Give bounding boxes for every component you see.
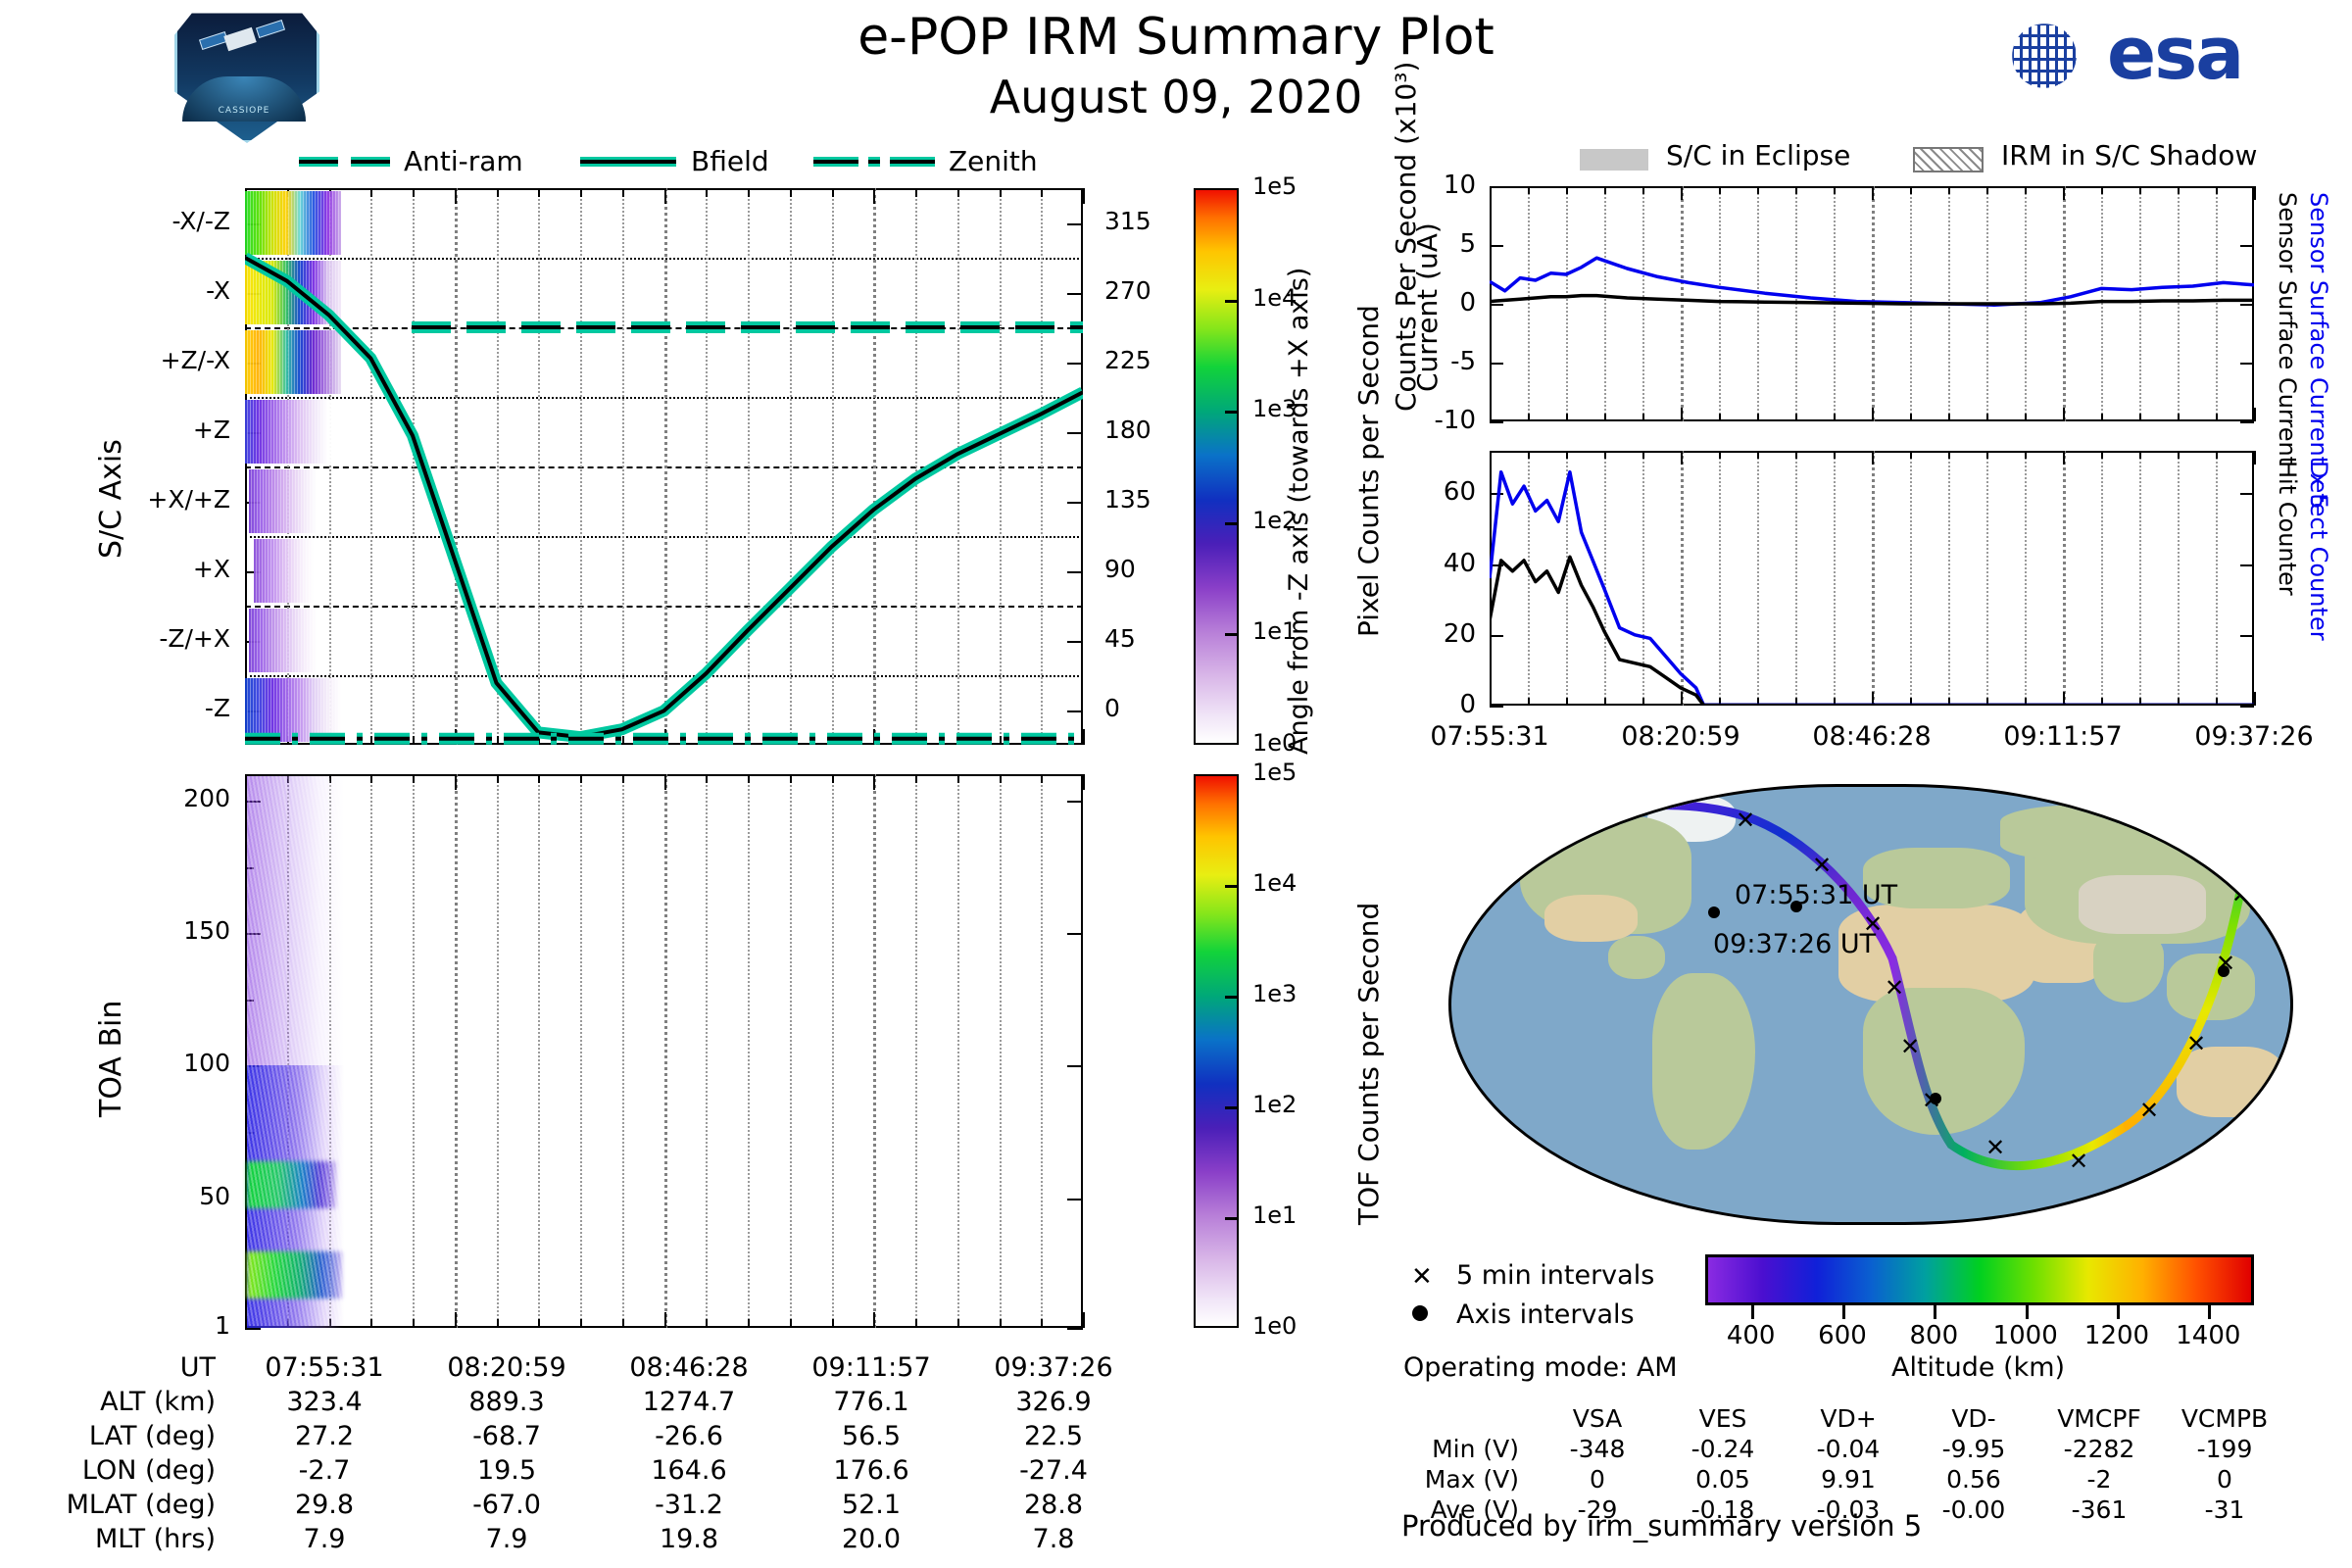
- ephemeris-cell: -67.0: [416, 1488, 598, 1522]
- ephemeris-row-label: LAT (deg): [20, 1419, 233, 1453]
- toa-bin-vgrid: [622, 774, 624, 1328]
- counts-xtick-label: 07:55:31: [1399, 721, 1580, 752]
- track-marker-x: ✕: [1900, 1035, 1920, 1058]
- toa-bin-xtick: [664, 774, 666, 790]
- tof-counts-colorbar-label: TOF Counts per Second: [1352, 903, 1385, 1225]
- tof-counts-colorbar-label: 1e4: [1252, 869, 1297, 897]
- toa-bin-xtick: [790, 774, 792, 783]
- ephemeris-cell: 326.9: [962, 1385, 1145, 1419]
- voltage-column-header: VMCPF: [2036, 1403, 2162, 1434]
- altitude-colorbar-tick: [1842, 1305, 1845, 1319]
- voltage-cell: -2282: [2036, 1434, 2162, 1464]
- ephemeris-cell: 08:20:59: [416, 1350, 598, 1385]
- eclipse-legend-label: S/C in Eclipse: [1666, 139, 1850, 171]
- counts-right-label-black: Hit Counter: [2274, 461, 2301, 596]
- ephemeris-row: MLAT (deg)29.8-67.0-31.252.128.8: [20, 1488, 1145, 1522]
- voltage-column-header: VSA: [1535, 1403, 1660, 1434]
- pixel-counts-colorbar-label: 1e3: [1252, 395, 1297, 422]
- sc-axis-ytick-label: +X/+Z: [20, 485, 230, 514]
- map-legend-dot-label: Axis intervals: [1456, 1299, 1635, 1330]
- ephemeris-cell: -68.7: [416, 1419, 598, 1453]
- ephemeris-cell: 323.4: [233, 1385, 416, 1419]
- voltage-cell: -361: [2036, 1494, 2162, 1525]
- legend-antiram-swatch-b-core: [351, 160, 390, 164]
- toa-bin-xtick: [1000, 774, 1002, 783]
- voltage-cell: -31: [2162, 1494, 2287, 1525]
- ytick: [1490, 706, 1503, 708]
- toa-bin-xtick: [915, 774, 917, 783]
- toa-bin-xtick: [1000, 1319, 1002, 1328]
- altitude-colorbar-tick: [2117, 1305, 2120, 1319]
- sc-axis-angle-tick-label: 315: [1104, 207, 1151, 235]
- legend-zenith-swatch-dot-core: [868, 160, 880, 164]
- toa-bin-xtick: [413, 1319, 415, 1328]
- toa-bin-xtick: [957, 774, 959, 783]
- pixel-counts-colorbar-label: 1e5: [1252, 172, 1297, 200]
- toa-bin-vgrid: [370, 774, 372, 1328]
- tof-counts-colorbar-label: 1e1: [1252, 1201, 1297, 1229]
- sc-axis-ytick-label: -Z: [20, 694, 230, 722]
- ephemeris-row-label: UT: [20, 1350, 233, 1385]
- ephemeris-row-label: ALT (km): [20, 1385, 233, 1419]
- toa-bin-xtick: [832, 774, 834, 783]
- toa-bin-xtick: [497, 1319, 499, 1328]
- ephemeris-cell: 28.8: [962, 1488, 1145, 1522]
- ephemeris-cell: 164.6: [598, 1453, 780, 1488]
- trace-detect-counter: [1490, 472, 2254, 706]
- altitude-colorbar-tick-label: 1400: [2149, 1321, 2267, 1350]
- ephemeris-row-label: LON (deg): [20, 1453, 233, 1488]
- toa-bin-vgrid: [1000, 774, 1002, 1328]
- toa-bin-vgrid: [580, 774, 582, 1328]
- toa-bin-vgrid: [832, 774, 834, 1328]
- ephemeris-cell: 776.1: [780, 1385, 962, 1419]
- ephemeris-cell: 22.5: [962, 1419, 1145, 1453]
- ephemeris-row-label: MLT (hrs): [20, 1522, 233, 1556]
- legend-antiram-swatch-a-core: [299, 160, 338, 164]
- ephemeris-row: UT07:55:3108:20:5908:46:2809:11:5709:37:…: [20, 1350, 1145, 1385]
- voltage-cell: 9.91: [1786, 1464, 1911, 1494]
- mission-patch-label: CASSIOPE: [174, 106, 314, 116]
- toa-bin-vgrid: [538, 774, 540, 1328]
- track-marker-x: ✕: [1885, 976, 1904, 1000]
- altitude-colorbar-tick: [2026, 1305, 2029, 1319]
- ephemeris-cell: 7.8: [962, 1522, 1145, 1556]
- toa-bin-xtick: [455, 774, 457, 790]
- ephemeris-cell: 08:46:28: [598, 1350, 780, 1385]
- map-annotation-end: 09:37:26 UT: [1713, 929, 1876, 959]
- cassiope-mission-patch: CASSIOPE: [174, 8, 314, 137]
- map-legend-dot-icon: [1412, 1305, 1428, 1321]
- legend-bfield-label: Bfield: [691, 145, 769, 177]
- sc-axis-angle-tick-label: 90: [1104, 555, 1136, 583]
- ephemeris-cell: 09:11:57: [780, 1350, 962, 1385]
- voltage-row-label: Min (V): [1401, 1434, 1535, 1464]
- ephemeris-cell: 20.0: [780, 1522, 962, 1556]
- sc-axis-curve-svg: [245, 188, 1083, 745]
- ytick-label: 0: [1382, 690, 1476, 719]
- tof-counts-colorbar-label: 1e3: [1252, 980, 1297, 1007]
- track-marker-x: ✕: [2069, 1150, 2088, 1173]
- sc-axis-ytick-label: +Z/-X: [20, 346, 230, 374]
- sc-axis-angle-tick-label: 180: [1104, 416, 1151, 444]
- ytick-label: 20: [1382, 619, 1476, 649]
- trace-hit-counter: [1490, 557, 2254, 705]
- esa-globe-icon: [1993, 16, 2095, 96]
- toa-bin-vgrid: [413, 774, 415, 1328]
- sc-axis-xtick: [1083, 188, 1085, 204]
- ephemeris-table: UT07:55:3108:20:5908:46:2809:11:5709:37:…: [20, 1350, 1145, 1556]
- ground-track-map: ✕ ✕ ✕ ✕ ✕ ✕ ✕ ✕ ✕ ✕ ✕ ✕ ✕ ✕ ✕ 07:55:31 U…: [1448, 784, 2293, 1225]
- sc-axis-ytick-label: +Z: [20, 416, 230, 444]
- ephemeris-cell: 1274.7: [598, 1385, 780, 1419]
- ytick-right: [2240, 706, 2254, 708]
- esa-wordmark: esa: [2107, 12, 2242, 96]
- sc-axis-angle-tick-label: 270: [1104, 276, 1151, 305]
- track-marker-x: ✕: [1736, 808, 1755, 832]
- toa-bin-vgrid: [455, 774, 458, 1328]
- ephemeris-cell: 7.9: [416, 1522, 598, 1556]
- toa-bin-vgrid: [790, 774, 792, 1328]
- ytick-right: [2240, 421, 2254, 423]
- voltage-cell: -0.04: [1786, 1434, 1911, 1464]
- counts-traces: [1490, 451, 2254, 706]
- tof-counts-colorbar-tick: [1225, 1217, 1237, 1220]
- pixel-counts-colorbar-label: 1e4: [1252, 284, 1297, 312]
- ephemeris-cell: -26.6: [598, 1419, 780, 1453]
- pixel-counts-colorbar-label: 1e2: [1252, 507, 1297, 534]
- shadow-legend-label: IRM in S/C Shadow: [2001, 139, 2257, 171]
- map-annotation-start: 07:55:31 UT: [1735, 880, 1897, 910]
- shadow-swatch-icon: [1913, 147, 1984, 172]
- trace-sensor-surface-current-x-5: [1490, 258, 2254, 305]
- track-marker-x: ✕: [2186, 1032, 2206, 1055]
- ephemeris-cell: 19.5: [416, 1453, 598, 1488]
- toa-bin-ytick: [245, 1328, 261, 1330]
- toa-bin-xtick: [1041, 774, 1043, 783]
- toa-bin-ytick-label: 50: [20, 1182, 230, 1210]
- counts-xtick-label: 09:37:26: [2164, 721, 2344, 752]
- toa-bin-xtick: [748, 774, 750, 783]
- toa-bin-xtick: [370, 774, 372, 783]
- track-marker-dot: [2247, 832, 2259, 844]
- toa-bin-xtick: [455, 1312, 457, 1328]
- toa-bin-ytick-label: 100: [20, 1049, 230, 1077]
- sc-axis-xtick: [1083, 729, 1085, 745]
- voltage-column-header: VES: [1660, 1403, 1786, 1434]
- legend-zenith-swatch-b-core: [890, 160, 935, 164]
- toa-bin-ytick-right: [1067, 1065, 1083, 1067]
- toa-bin-xtick: [706, 1319, 708, 1328]
- pixel-counts-colorbar-label: Pixel Counts per Second: [1352, 305, 1385, 637]
- current-traces: [1490, 186, 2254, 421]
- tof-counts-colorbar-tick: [1225, 996, 1237, 999]
- ephemeris-cell: 09:37:26: [962, 1350, 1145, 1385]
- toa-bin-ytick-label: 1: [20, 1311, 230, 1340]
- legend-antiram-label: Anti-ram: [404, 145, 523, 177]
- toa-bin-xtick: [790, 1319, 792, 1328]
- voltage-row: Max (V)00.059.910.56-20: [1401, 1464, 2287, 1494]
- toa-bin-ytick-right: [1067, 1199, 1083, 1200]
- toa-bin-vgrid: [915, 774, 917, 1328]
- voltage-cell: 0: [1535, 1464, 1660, 1494]
- map-legend-x-icon: ✕: [1411, 1262, 1433, 1292]
- sc-axis-angle-tick-label: 225: [1104, 346, 1151, 374]
- voltage-cell: 0.56: [1911, 1464, 2036, 1494]
- tof-counts-colorbar: [1194, 774, 1239, 1328]
- voltage-header-blank: [1401, 1403, 1535, 1434]
- ephemeris-cell: 889.3: [416, 1385, 598, 1419]
- track-marker-dot: [1708, 906, 1720, 918]
- altitude-colorbar: [1705, 1254, 2254, 1305]
- voltage-cell: 0.05: [1660, 1464, 1786, 1494]
- current-right-label-black: Sensor Surface Current: [2274, 192, 2301, 465]
- toa-bin-vgrid: [873, 774, 876, 1328]
- track-marker-x: ✕: [2231, 883, 2251, 906]
- voltage-row-label: Max (V): [1401, 1464, 1535, 1494]
- counts-ylabel-line1: Counts Per Second (x10³): [1390, 62, 1422, 412]
- xtick: [2254, 408, 2256, 421]
- ephemeris-cell: 29.8: [233, 1488, 416, 1522]
- pixel-counts-colorbar-tick: [1225, 300, 1237, 303]
- sc-axis-angle-tick-label: 0: [1104, 694, 1120, 722]
- voltage-stats-table: VSAVESVD+VD-VMCPFVCMPBMin (V)-348-0.24-0…: [1401, 1403, 2287, 1525]
- toa-bin-vgrid: [706, 774, 708, 1328]
- ytick: [1490, 421, 1503, 423]
- counts-xtick-label: 09:11:57: [1973, 721, 2153, 752]
- voltage-header-row: VSAVESVD+VD-VMCPFVCMPB: [1401, 1403, 2287, 1434]
- legend-bfield-swatch-core: [580, 160, 676, 164]
- ephemeris-row: LAT (deg)27.2-68.7-26.656.522.5: [20, 1419, 1145, 1453]
- ephemeris-row: ALT (km)323.4889.31274.7776.1326.9: [20, 1385, 1145, 1419]
- toa-bin-xtick: [497, 774, 499, 783]
- altitude-colorbar-tick: [2208, 1305, 2211, 1319]
- pixel-counts-colorbar-label: 1e1: [1252, 617, 1297, 645]
- pixel-counts-colorbar-tick: [1225, 522, 1237, 525]
- altitude-colorbar-tick: [1751, 1305, 1754, 1319]
- ephemeris-cell: 176.6: [780, 1453, 962, 1488]
- track-marker-x: ✕: [1985, 1136, 2005, 1159]
- ephemeris-cell: 7.9: [233, 1522, 416, 1556]
- track-marker-x: ✕: [1628, 797, 1647, 820]
- toa-bin-xtick: [538, 774, 540, 783]
- toa-bin-xtick: [538, 1319, 540, 1328]
- ephemeris-cell: 56.5: [780, 1419, 962, 1453]
- toa-bin-xtick: [622, 774, 624, 783]
- toa-bin-xtick: [873, 774, 875, 790]
- track-marker-dot: [2218, 965, 2229, 977]
- track-marker-x: ✕: [1812, 854, 1832, 877]
- track-marker-x: ✕: [1502, 834, 1522, 857]
- pixel-counts-colorbar-tick: [1225, 633, 1237, 636]
- voltage-column-header: VCMPB: [2162, 1403, 2287, 1434]
- toa-bin-ytick-right: [1067, 1328, 1083, 1330]
- toa-bin-xtick: [957, 1319, 959, 1328]
- ephemeris-cell: -2.7: [233, 1453, 416, 1488]
- toa-bin-texture: [247, 776, 344, 1326]
- ephemeris-row-label: MLAT (deg): [20, 1488, 233, 1522]
- voltage-cell: -199: [2162, 1434, 2287, 1464]
- xtick: [2254, 451, 2256, 465]
- toa-bin-xtick: [664, 1312, 666, 1328]
- toa-bin-vgrid: [748, 774, 750, 1328]
- ephemeris-cell: -31.2: [598, 1488, 780, 1522]
- toa-bin-xtick: [706, 774, 708, 783]
- ytick-label: 40: [1382, 549, 1476, 578]
- toa-bin-vgrid: [664, 774, 667, 1328]
- ytick-label: 60: [1382, 477, 1476, 507]
- sc-axis-ytick-label: -Z/+X: [20, 624, 230, 653]
- trace-sensor-surface-current: [1490, 296, 2254, 304]
- toa-bin-xtick: [413, 774, 415, 783]
- pixel-counts-colorbar: [1194, 188, 1239, 745]
- counts-xtick-label: 08:20:59: [1591, 721, 1771, 752]
- voltage-cell: -0.00: [1911, 1494, 2036, 1525]
- tof-counts-colorbar-label: 1e2: [1252, 1091, 1297, 1118]
- pixel-counts-colorbar-tick: [1225, 411, 1237, 414]
- voltage-row: Min (V)-348-0.24-0.04-9.95-2282-199: [1401, 1434, 2287, 1464]
- ephemeris-cell: 19.8: [598, 1522, 780, 1556]
- tof-counts-colorbar-tick: [1225, 1106, 1237, 1109]
- toa-bin-xtick: [1041, 1319, 1043, 1328]
- xtick: [2254, 186, 2256, 200]
- ephemeris-cell: 07:55:31: [233, 1350, 416, 1385]
- track-marker-dot: [1930, 1093, 1941, 1104]
- toa-bin-xtick: [748, 1319, 750, 1328]
- tof-counts-colorbar-tick: [1225, 885, 1237, 888]
- sc-axis-angle-tick-label: 45: [1104, 624, 1136, 653]
- voltage-cell: 0: [2162, 1464, 2287, 1494]
- pixel-counts-colorbar-label: 1e0: [1252, 729, 1297, 757]
- ground-track-path: [1451, 787, 2293, 1225]
- voltage-cell: -348: [1535, 1434, 1660, 1464]
- ephemeris-row: LON (deg)-2.719.5164.6176.6-27.4: [20, 1453, 1145, 1488]
- legend-zenith-label: Zenith: [949, 145, 1038, 177]
- counts-xtick-label: 08:46:28: [1782, 721, 1962, 752]
- operating-mode-label: Operating mode: AM: [1403, 1352, 1678, 1383]
- toa-bin-xtick: [873, 1312, 875, 1328]
- toa-bin-xtick: [832, 1319, 834, 1328]
- toa-bin-xtick: [622, 1319, 624, 1328]
- altitude-colorbar-label: Altitude (km): [1891, 1352, 2065, 1383]
- sc-axis-ytick-label: -X: [20, 276, 230, 305]
- toa-bin-xtick: [370, 1319, 372, 1328]
- counts-right-label-blue: Detect Counter: [2305, 461, 2332, 641]
- ephemeris-cell: -27.4: [962, 1453, 1145, 1488]
- eclipse-swatch-icon: [1580, 149, 1648, 171]
- toa-bin-ytick-right: [1067, 801, 1083, 803]
- toa-bin-xtick: [1083, 774, 1085, 790]
- voltage-cell: -9.95: [1911, 1434, 2036, 1464]
- map-legend-x-label: 5 min intervals: [1456, 1260, 1654, 1291]
- toa-bin-vgrid: [1041, 774, 1043, 1328]
- toa-bin-ytick-label: 200: [20, 784, 230, 812]
- map-ocean-background: ✕ ✕ ✕ ✕ ✕ ✕ ✕ ✕ ✕ ✕ ✕ ✕ ✕ ✕ ✕: [1448, 784, 2293, 1225]
- footer-text: Produced by irm_summary version 5: [1401, 1509, 1922, 1543]
- voltage-cell: -0.24: [1660, 1434, 1786, 1464]
- xtick: [2254, 692, 2256, 706]
- altitude-colorbar-tick: [1934, 1305, 1936, 1319]
- toa-bin-xtick: [915, 1319, 917, 1328]
- toa-bin-ytick-label: 150: [20, 916, 230, 945]
- ephemeris-cell: 27.2: [233, 1419, 416, 1453]
- track-marker-x: ✕: [2139, 1099, 2159, 1122]
- sc-axis-ytick-label: -X/-Z: [20, 207, 230, 235]
- toa-bin-ytick-right: [1067, 933, 1083, 935]
- toa-bin-xtick: [580, 774, 582, 783]
- legend-zenith-swatch-a-core: [813, 160, 858, 164]
- sc-axis-angle-tick-label: 135: [1104, 485, 1151, 514]
- ephemeris-cell: 52.1: [780, 1488, 962, 1522]
- toa-bin-xtick: [580, 1319, 582, 1328]
- toa-bin-xtick: [1083, 1312, 1085, 1328]
- voltage-cell: -2: [2036, 1464, 2162, 1494]
- voltage-column-header: VD+: [1786, 1403, 1911, 1434]
- ephemeris-row: MLT (hrs)7.97.919.820.07.8: [20, 1522, 1145, 1556]
- tof-counts-colorbar-label: 1e5: [1252, 759, 1297, 786]
- counts-ylabel-text: Counts Per Second (x10³): [1390, 62, 1422, 412]
- toa-bin-vgrid: [497, 774, 499, 1328]
- voltage-column-header: VD-: [1911, 1403, 2036, 1434]
- esa-logo: esa: [1989, 10, 2342, 100]
- tof-counts-colorbar-label: 1e0: [1252, 1312, 1297, 1340]
- toa-bin-vgrid: [957, 774, 959, 1328]
- sc-axis-ytick-label: +X: [20, 555, 230, 583]
